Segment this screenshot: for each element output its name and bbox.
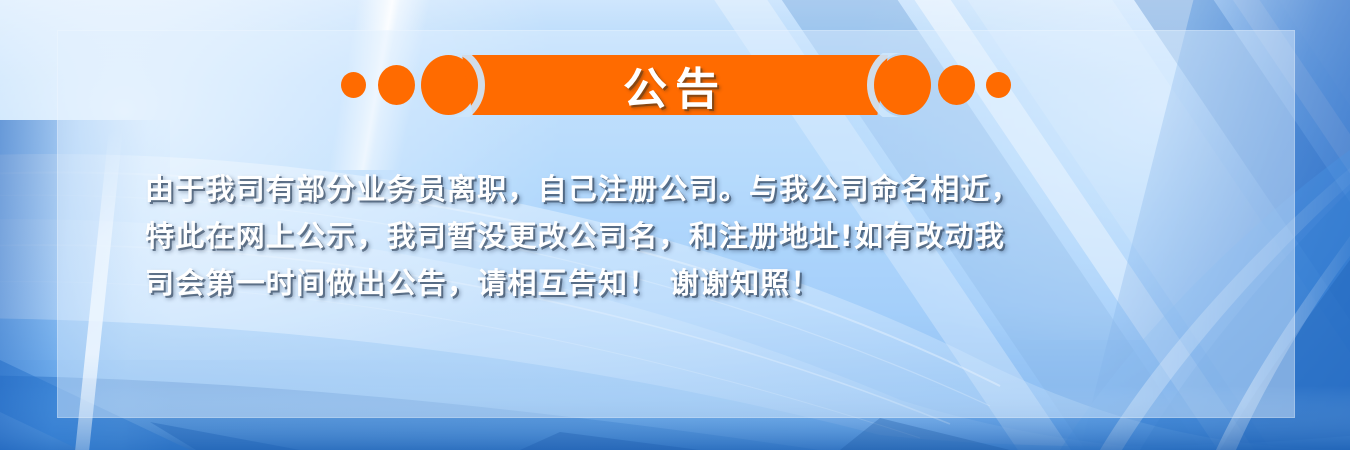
banner-title: 公告 <box>462 55 888 115</box>
left-medium-dot-icon <box>378 65 415 105</box>
announcement-line-2: 特此在网上公示，我司暂没更改公司名，和注册地址!如有改动我 <box>145 213 1235 260</box>
announcement-line-3: 司会第一时间做出公告，请相互告知！ 谢谢知照！ <box>145 260 1235 307</box>
right-small-dot-icon <box>986 72 1011 98</box>
right-medium-dot-icon <box>938 65 975 105</box>
left-small-dot-icon <box>341 72 366 98</box>
announcement-text: 由于我司有部分业务员离职，自己注册公司。与我公司命名相近， 特此在网上公示，我司… <box>145 166 1235 307</box>
announcement-line-1: 由于我司有部分业务员离职，自己注册公司。与我公司命名相近， <box>145 166 1235 213</box>
announcement-banner: 公告 由于我司有部分业务员离职，自己注册公司。与我公司命名相近， 特此在网上公示… <box>0 0 1350 450</box>
